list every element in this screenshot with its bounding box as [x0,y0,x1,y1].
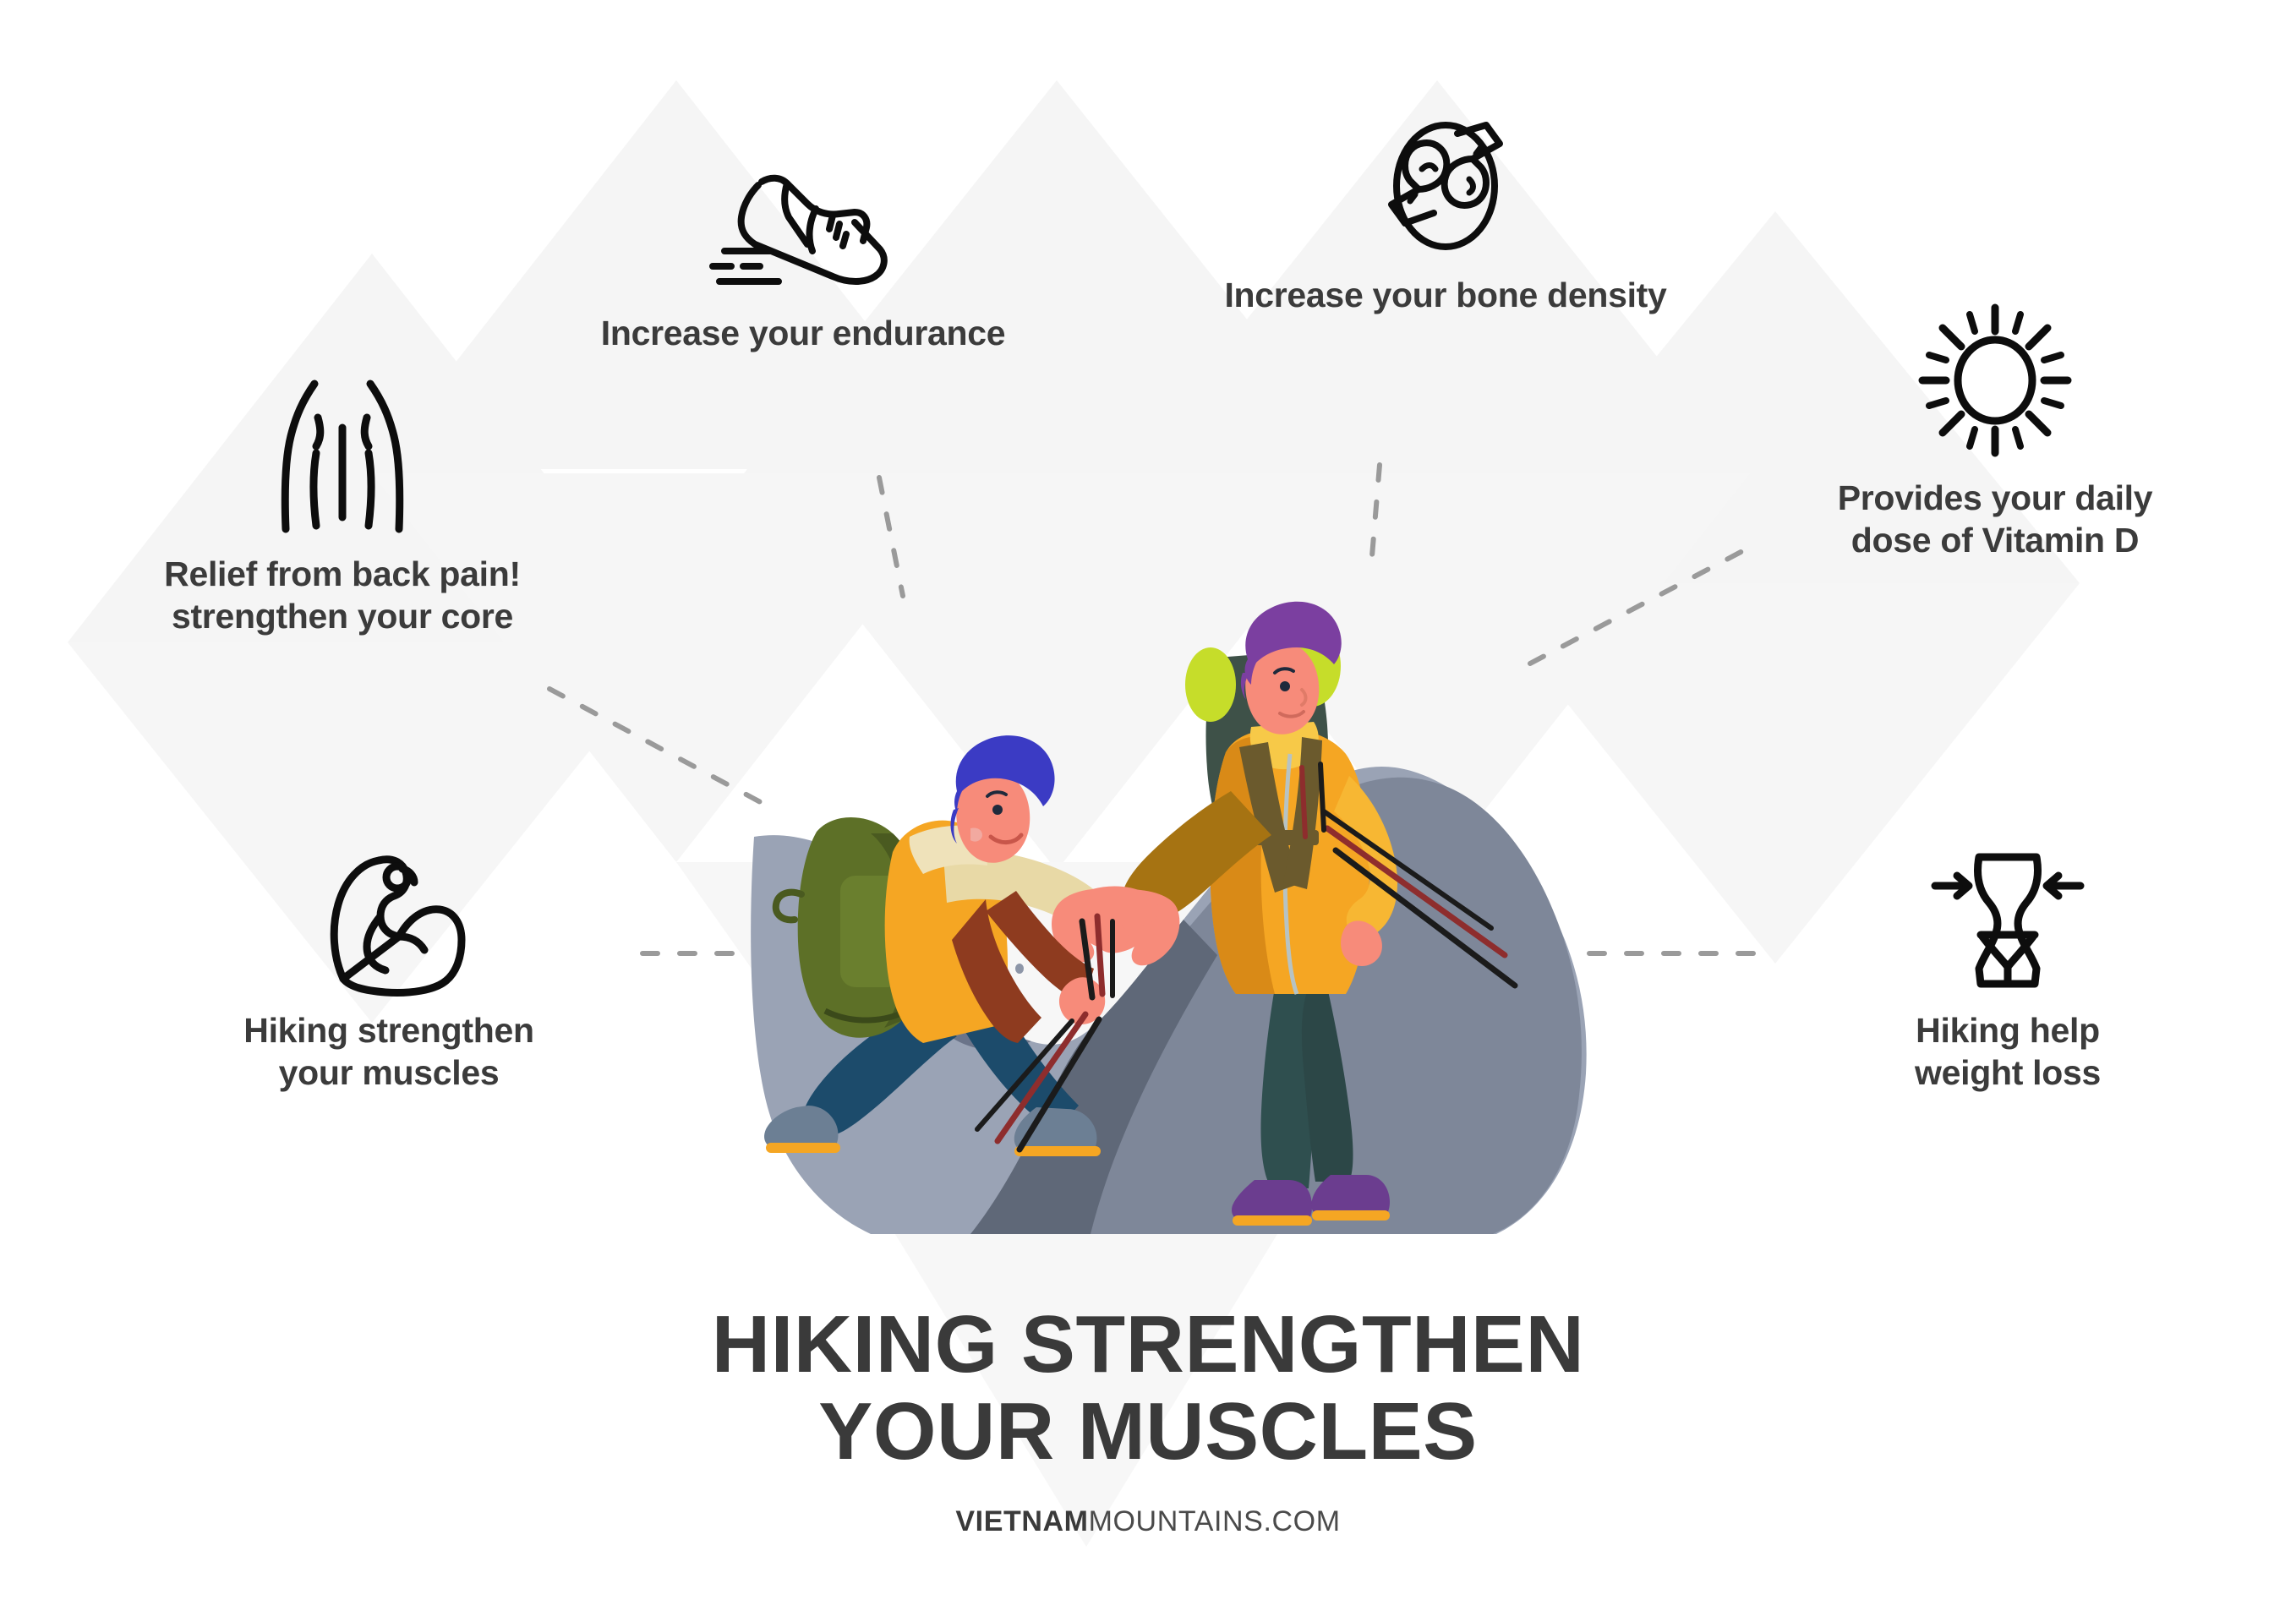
benefit-weight-loss[interactable]: Hiking help weight loss [1788,845,2228,1094]
site-name-bold: VIETNAM [955,1505,1088,1537]
benefit-caption: Increase your bone density [1124,274,1767,316]
back-torso-icon [262,372,423,541]
benefit-caption: Hiking strengthen your muscles [144,1009,634,1094]
sun-icon [1911,296,2080,465]
bone-joint-icon-wrap [1124,110,1767,262]
sleeping-roll-left [1185,647,1236,722]
flexed-bicep-icon [304,845,473,997]
benefit-muscles[interactable]: Hiking strengthen your muscles [144,845,634,1094]
benefit-back-pain[interactable]: Relief from back pain! strengthen your c… [89,372,596,637]
running-shoe-icon [706,156,900,300]
bone-joint-icon [1369,110,1522,262]
benefit-caption: Provides your daily dose of Vitamin D [1699,477,2291,561]
benefit-caption: Hiking help weight loss [1788,1009,2228,1094]
slim-waist-icon-wrap [1788,845,2228,997]
site-name-light: MOUNTAINS.COM [1089,1505,1341,1537]
benefit-caption: Relief from back pain! strengthen your c… [89,553,596,637]
slim-waist-icon [1923,845,2092,997]
connector-bone-to-center [1371,465,1380,566]
title-block: HIKING STRENGTHEN YOUR MUSCLES VIETNAMMO… [0,1302,2296,1538]
sun-icon-wrap [1699,296,2291,465]
benefit-endurance[interactable]: Increase your endurance [490,156,1116,354]
benefit-vitamin-d[interactable]: Provides your daily dose of Vitamin D [1699,296,2291,561]
two-hikers-illustration [744,558,1589,1268]
running-shoe-icon-wrap [490,156,1116,300]
flexed-bicep-icon-wrap [144,845,634,997]
page-title: HIKING STRENGTHEN YOUR MUSCLES [0,1302,2296,1475]
back-torso-icon-wrap [89,372,596,541]
site-attribution: VIETNAMMOUNTAINS.COM [0,1505,2296,1538]
benefit-bone-density[interactable]: Increase your bone density [1124,110,1767,316]
benefit-caption: Increase your endurance [490,312,1116,354]
infographic-canvas: Relief from back pain! strengthen your c… [0,0,2296,1611]
